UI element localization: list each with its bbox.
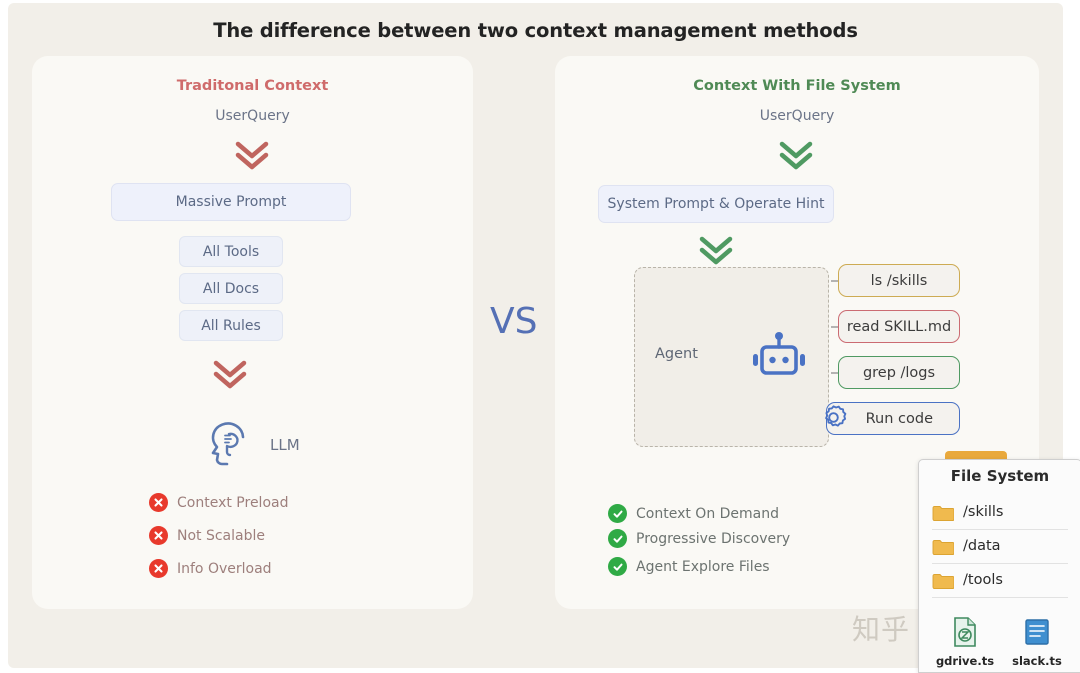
massive-prompt-box[interactable]: Massive Prompt — [111, 183, 351, 221]
panel-traditional-context: Traditonal Context UserQuery Massive Pro… — [32, 56, 473, 609]
folder-icon — [932, 538, 954, 555]
bullet-progressive-discovery: Progressive Discovery — [608, 529, 790, 548]
action-label: ls /skills — [871, 273, 928, 289]
action-label: grep /logs — [863, 365, 935, 381]
action-label: read SKILL.md — [847, 319, 951, 335]
robot-icon — [750, 330, 808, 388]
sub-box-all-docs[interactable]: All Docs — [179, 273, 283, 304]
fs-folder-name: /skills — [963, 504, 1003, 520]
file-blue-icon — [1023, 616, 1051, 652]
bullet-label: Context Preload — [177, 495, 288, 511]
diagram-canvas: The difference between two context manag… — [8, 3, 1063, 668]
action-ls-skills[interactable]: ls /skills — [838, 264, 960, 297]
gear-icon — [818, 404, 849, 439]
bullet-label: Agent Explore Files — [636, 559, 770, 575]
chevron-double-down-icon — [774, 139, 818, 173]
action-read-skill-md[interactable]: read SKILL.md — [838, 310, 960, 343]
bullet-label: Not Scalable — [177, 528, 265, 544]
left-user-query: UserQuery — [32, 108, 473, 124]
folder-icon — [932, 504, 954, 521]
action-grep-logs[interactable]: grep /logs — [838, 356, 960, 389]
cross-circle-icon — [149, 526, 168, 545]
file-green-icon — [951, 616, 979, 652]
cross-circle-icon — [149, 493, 168, 512]
chevron-double-down-icon — [208, 358, 252, 392]
agent-label: Agent — [655, 346, 698, 362]
file-name: gdrive.ts — [936, 654, 994, 668]
file-system-card: File System /skills /data /tools — [918, 459, 1080, 673]
file-item-gdrive[interactable]: gdrive.ts — [934, 616, 996, 668]
file-system-files: gdrive.ts slack.ts — [929, 616, 1073, 668]
chevron-double-down-icon — [230, 139, 274, 173]
bullet-not-scalable: Not Scalable — [149, 526, 265, 545]
bullet-label: Progressive Discovery — [636, 531, 790, 547]
sub-box-all-tools[interactable]: All Tools — [179, 236, 283, 267]
right-user-query: UserQuery — [555, 108, 1039, 124]
sub-box-all-rules[interactable]: All Rules — [179, 310, 283, 341]
file-name: slack.ts — [1012, 654, 1062, 668]
system-prompt-box[interactable]: System Prompt & Operate Hint — [598, 185, 834, 223]
fs-folder-name: /tools — [963, 572, 1003, 588]
sub-box-label: All Docs — [203, 281, 259, 297]
check-circle-icon — [608, 557, 627, 576]
bullet-context-preload: Context Preload — [149, 493, 288, 512]
action-label: Run code — [866, 411, 933, 427]
llm-label: LLM — [270, 436, 300, 454]
folder-icon — [932, 572, 954, 589]
fs-row-tools[interactable]: /tools — [932, 563, 1068, 598]
sub-box-label: All Rules — [201, 318, 261, 334]
file-system-title: File System — [919, 467, 1080, 485]
bullet-label: Context On Demand — [636, 506, 779, 522]
page-title: The difference between two context manag… — [8, 19, 1063, 42]
check-circle-icon — [608, 504, 627, 523]
bullet-label: Info Overload — [177, 561, 272, 577]
head-brain-icon — [203, 419, 255, 475]
chevron-double-down-icon — [694, 234, 738, 268]
panel-heading-traditional: Traditonal Context — [32, 78, 473, 94]
system-prompt-label: System Prompt & Operate Hint — [608, 196, 825, 212]
bullet-agent-explore-files: Agent Explore Files — [608, 557, 770, 576]
panel-heading-file-system: Context With File System — [555, 78, 1039, 94]
fs-folder-name: /data — [963, 538, 1001, 554]
cross-circle-icon — [149, 559, 168, 578]
vs-label: VS — [490, 301, 537, 342]
bullet-info-overload: Info Overload — [149, 559, 272, 578]
file-item-slack[interactable]: slack.ts — [1006, 616, 1068, 668]
check-circle-icon — [608, 529, 627, 548]
bullet-context-on-demand: Context On Demand — [608, 504, 779, 523]
sub-box-label: All Tools — [203, 244, 259, 260]
massive-prompt-label: Massive Prompt — [176, 194, 287, 210]
fs-row-data[interactable]: /data — [932, 529, 1068, 564]
fs-row-skills[interactable]: /skills — [932, 495, 1068, 530]
